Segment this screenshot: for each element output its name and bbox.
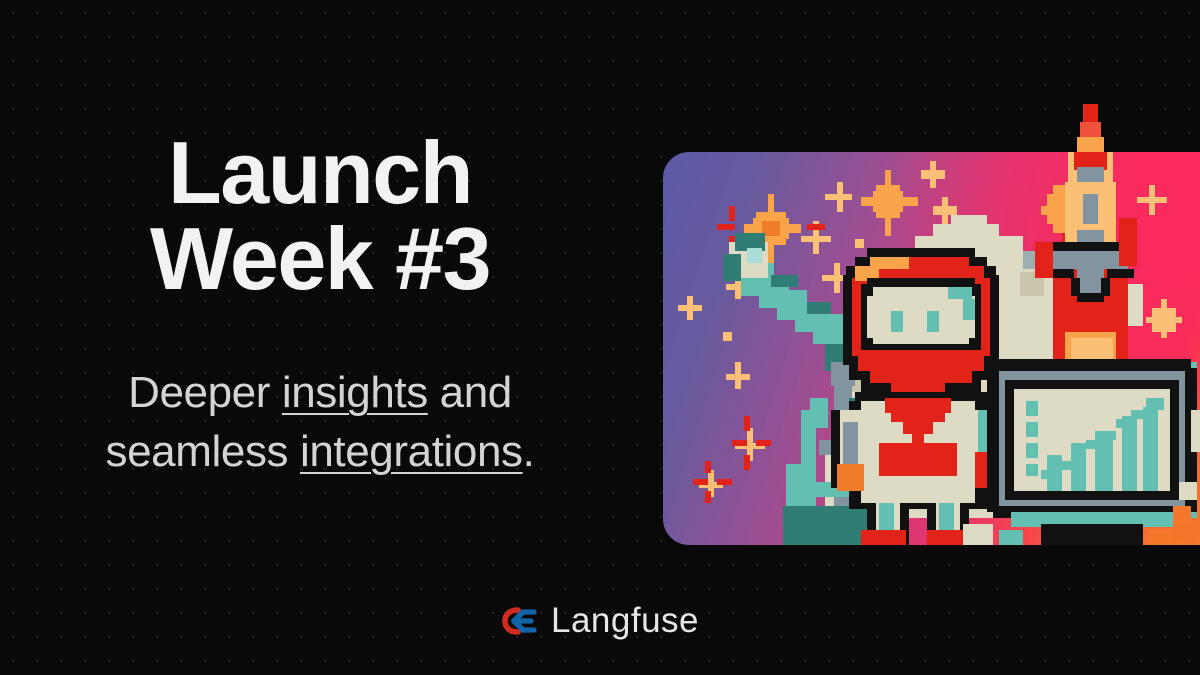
subtitle-line-2: seamless integrations. [0, 423, 640, 481]
subtitle-line-1: Deeper insights and [0, 364, 640, 422]
artwork-clip [663, 152, 1200, 545]
subtitle-text-1b: and [428, 368, 512, 417]
astronaut [831, 248, 1014, 545]
hero-artwork [663, 152, 1200, 545]
slide-canvas: Launch Week #3 Deeper insights and seaml… [0, 0, 1200, 675]
pixel-art-scene [663, 152, 1200, 545]
subtitle: Deeper insights and seamless integration… [0, 302, 640, 480]
text-column: Launch Week #3 Deeper insights and seaml… [0, 130, 640, 481]
subtitle-text-2a: seamless [106, 427, 300, 476]
page-title: Launch Week #3 [0, 130, 640, 302]
subtitle-text-2b: . [523, 427, 535, 476]
logo-wordmark: Langfuse [551, 603, 699, 638]
brand-logo: Langfuse [0, 603, 1200, 638]
headline-line-1: Launch [0, 130, 640, 216]
headline-line-2: Week #3 [0, 216, 640, 302]
subtitle-underline-integrations: integrations [300, 427, 523, 476]
langfuse-logo-icon [501, 606, 537, 636]
subtitle-underline-insights: insights [282, 368, 428, 417]
subtitle-text-1a: Deeper [128, 368, 282, 417]
chart-monitor [987, 359, 1200, 545]
